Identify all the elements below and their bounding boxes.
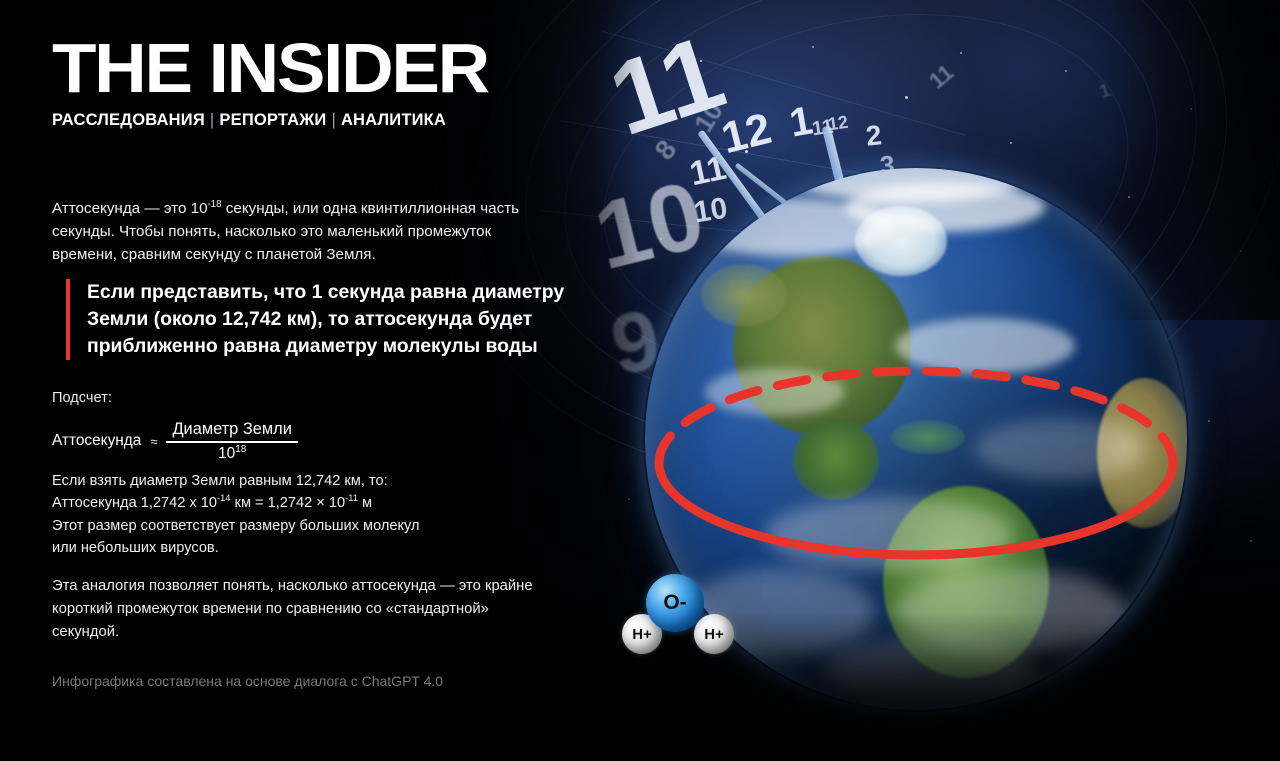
brand-header: THE INSIDER РАССЛЕДОВАНИЯ|РЕПОРТАЖИ|АНАЛ… — [52, 36, 471, 130]
infographic-canvas: 111091211110111223810111 — [0, 0, 1280, 761]
calc-seg-text: Аттосекунда 1,2742 x 10 — [52, 495, 217, 511]
formula-numerator: Диаметр Земли — [166, 420, 297, 441]
tagline-separator: | — [205, 111, 220, 129]
tagline-item-0: РАССЛЕДОВАНИЯ — [52, 111, 205, 129]
conclusion-paragraph: Эта аналогия позволяет понять, насколько… — [52, 575, 552, 643]
equator-solid-front — [659, 463, 1173, 555]
formula-denominator: 1018 — [218, 443, 246, 463]
tagline-item-1: РЕПОРТАЖИ — [219, 111, 326, 129]
formula-block: Аттосекунда ≈ Диаметр Земли 1018 — [52, 420, 298, 463]
intro-paragraph: Аттосекунда — это 10-18 секунды, или одн… — [52, 197, 560, 266]
calculation-lines: Если взять диаметр Земли равным 12,742 к… — [52, 470, 552, 560]
highlight-quote: Если представить, что 1 секунда равна ди… — [66, 279, 599, 360]
top-right-gradient-overlay — [1100, 0, 1280, 320]
calculation-line: или небольших вирусов. — [52, 537, 552, 559]
tagline-separator: | — [326, 111, 341, 129]
tagline-item-2: АНАЛИТИКА — [341, 111, 446, 129]
calculation-line: Этот размер соответствует размеру больши… — [52, 515, 552, 537]
credit-line: Инфографика составлена на основе диалога… — [52, 673, 443, 689]
formula-denominator-exponent: 18 — [235, 443, 246, 454]
calc-seg-text: м — [358, 495, 372, 511]
calculation-line: Если взять диаметр Земли равным 12,742 к… — [52, 470, 552, 492]
calc-seg-exponent: -11 — [345, 494, 358, 504]
hydrogen-atom-right: H+ — [694, 614, 734, 654]
oxygen-atom: O- — [646, 574, 704, 632]
calculation-line-text: Этот размер соответствует размеру больши… — [52, 518, 420, 534]
logo-wordmark: THE INSIDER — [52, 36, 488, 100]
formula-fraction: Диаметр Земли 1018 — [166, 420, 297, 463]
intro-exponent: -18 — [208, 199, 222, 210]
calc-seg-text: км = 1,2742 × 10 — [231, 495, 346, 511]
formula-lhs: Аттосекунда — [52, 432, 141, 450]
calc-seg-exponent: -14 — [217, 494, 230, 504]
equator-dashed-back — [659, 371, 1173, 463]
clock-numeral: 2 — [865, 121, 883, 150]
intro-text-part1: Аттосекунда — это 10 — [52, 200, 208, 217]
calculation-line-text: Если взять диаметр Земли равным 12,742 к… — [52, 473, 388, 489]
brand-tagline: РАССЛЕДОВАНИЯ|РЕПОРТАЖИ|АНАЛИТИКА — [52, 111, 471, 130]
calculation-line-text: или небольших вирусов. — [52, 540, 219, 556]
formula-operator: ≈ — [150, 434, 157, 449]
calculation-line: Аттосекунда 1,2742 x 10-14 км = 1,2742 ×… — [52, 492, 552, 514]
calculation-label: Подсчет: — [52, 390, 112, 406]
formula-denominator-base: 10 — [218, 445, 235, 462]
